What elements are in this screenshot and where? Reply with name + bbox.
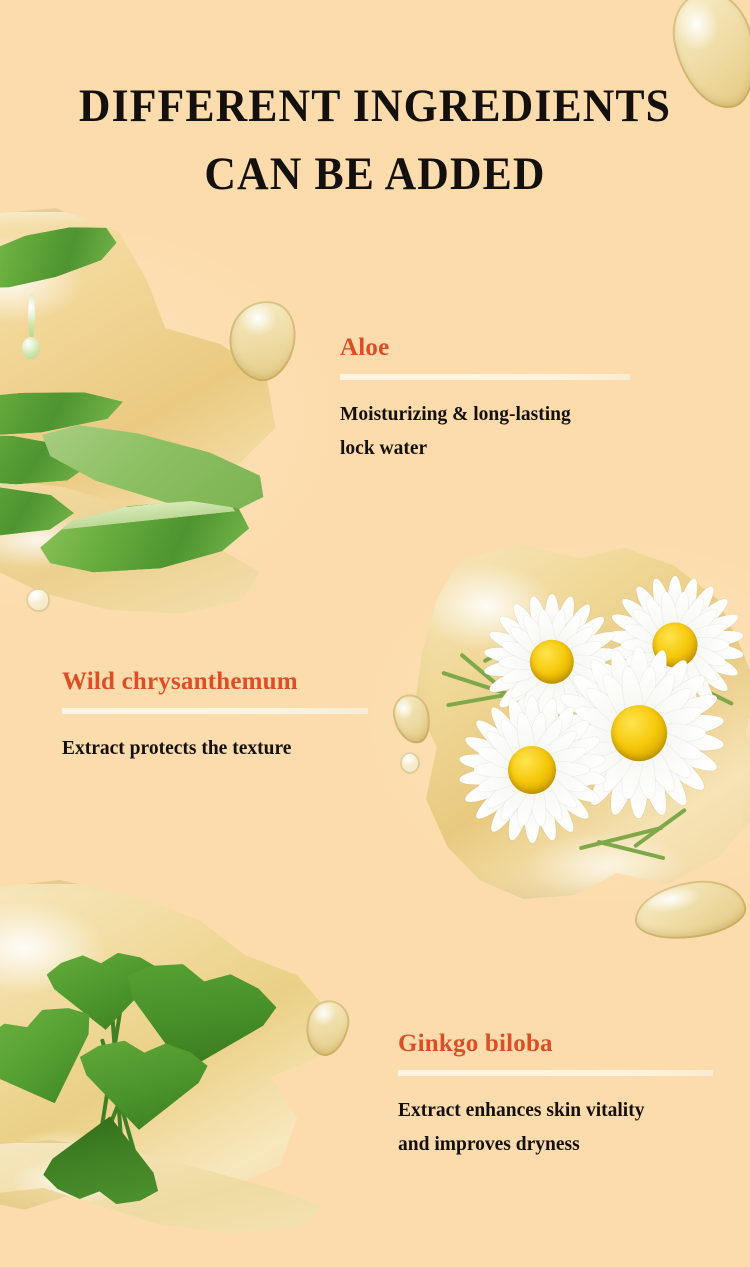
ginkgo-leaf-center [75,1038,209,1135]
ingredient-block-aloe: Aloe Moisturizing & long-lasting lock wa… [340,334,630,467]
ingredient-description-aloe: Moisturizing & long-lasting lock water [340,398,630,467]
aloe-desc-line-1: Moisturizing & long-lasting [340,398,630,433]
ingredient-rule-ginkgo [398,1070,713,1076]
aloe-slice-1 [0,215,126,318]
ingredient-block-chrysanthemum: Wild chrysanthemum Extract protects the … [62,668,368,766]
aloe-leaf-cluster [0,225,290,585]
chrysanthemum-desc-line-1: Extract protects the texture [62,732,368,767]
title-line-2: CAN BE ADDED [26,140,724,208]
page-title: DIFFERENT INGREDIENTS CAN BE ADDED [0,72,750,208]
aloe-gel-drip-bead [22,337,40,359]
ingredient-rule-chrysanthemum [62,708,368,714]
ingredient-name-aloe: Aloe [340,334,630,362]
ingredient-description-chrysanthemum: Extract protects the texture [62,732,368,767]
daisy-flower-4 [452,690,612,850]
daisy-center-disc [508,746,556,794]
ginkgo-desc-line-1: Extract enhances skin vitality [398,1094,713,1129]
ginkgo-leaf-cluster [0,920,330,1220]
ingredient-name-ginkgo: Ginkgo biloba [398,1030,713,1058]
aloe-gel-drip-stream [28,293,35,339]
ginkgo-leaf-bottom [41,1108,168,1209]
ingredient-name-chrysanthemum: Wild chrysanthemum [62,668,368,696]
gel-droplet-chrys-left-lower [400,752,420,774]
aloe-slice-5 [37,492,254,590]
ingredient-description-ginkgo: Extract enhances skin vitality and impro… [398,1094,713,1163]
ingredient-rule-aloe [340,374,630,380]
aloe-desc-line-2: lock water [340,432,630,467]
gel-droplet-aloe-lower-left [26,588,50,612]
poster-canvas: DIFFERENT INGREDIENTS CAN BE ADDED [0,0,750,1267]
title-line-1: DIFFERENT INGREDIENTS [26,72,724,140]
ginkgo-desc-line-2: and improves dryness [398,1128,713,1163]
ingredient-block-ginkgo: Ginkgo biloba Extract enhances skin vita… [398,1030,713,1163]
daisy-center-disc [611,705,667,761]
